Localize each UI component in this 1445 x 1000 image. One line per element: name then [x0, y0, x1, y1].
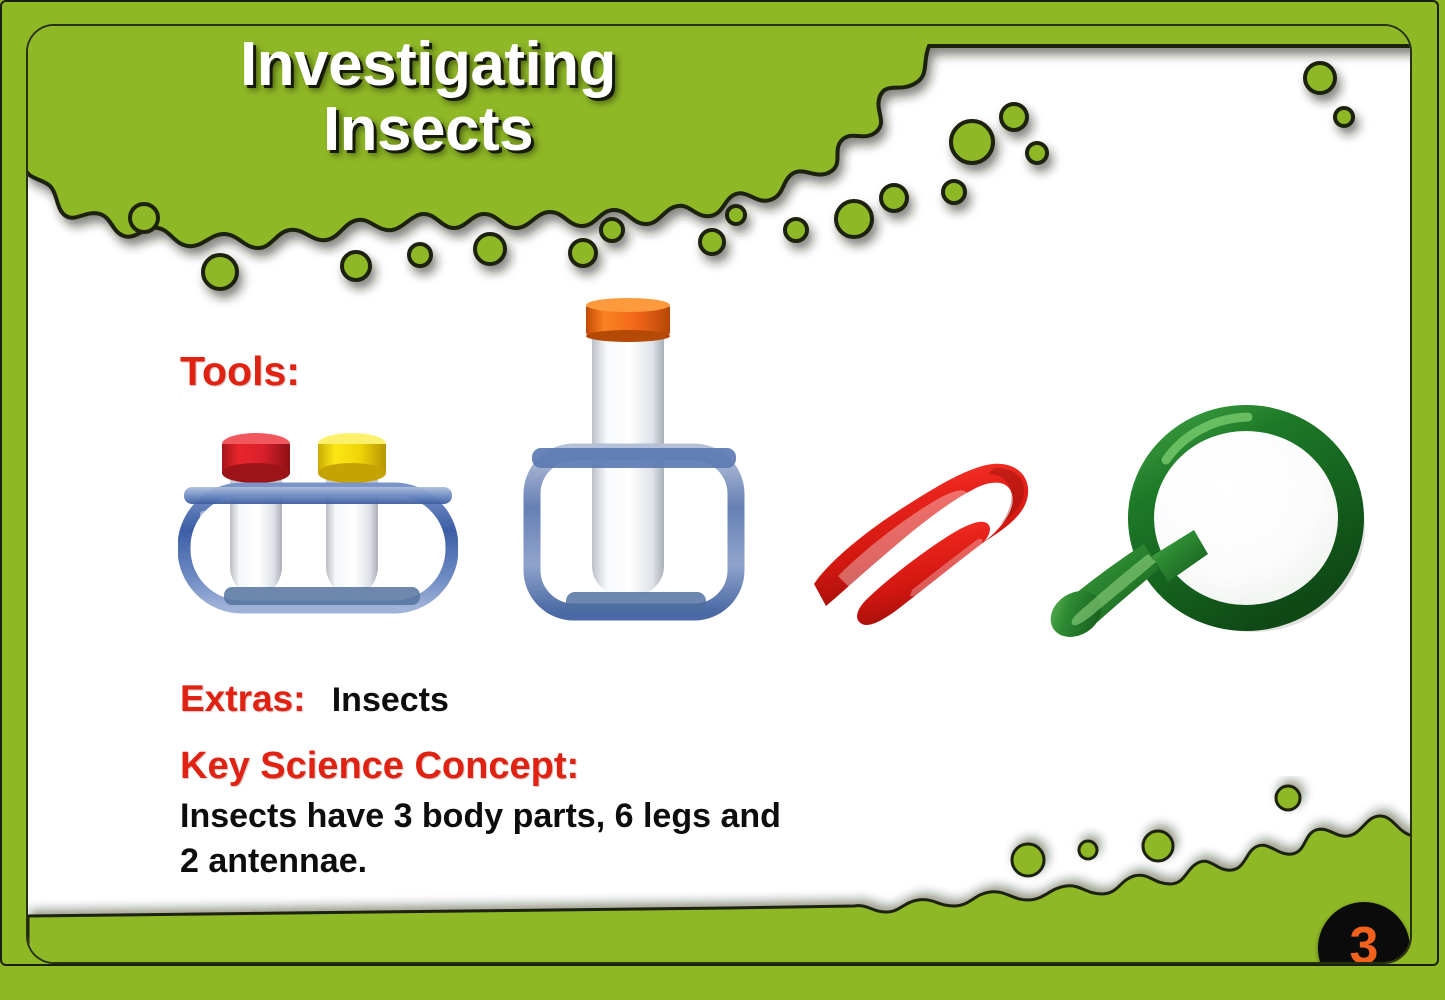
- concept-value: Insects have 3 body parts, 6 legs and 2 …: [180, 794, 800, 884]
- page-number: 3: [1350, 920, 1379, 962]
- tools-illustration-strip: [168, 296, 1408, 656]
- tweezers-icon: [808, 436, 1038, 636]
- extras-label: Extras:: [180, 678, 305, 719]
- title-line-1: Investigating: [240, 30, 616, 99]
- title-line-2: Insects: [148, 97, 708, 162]
- extras-value: Insects: [332, 681, 449, 719]
- test-tube-icon: [518, 296, 758, 626]
- page-number-badge: 3: [1318, 902, 1410, 962]
- card-title: Investigating Insects: [148, 32, 708, 162]
- extras-row: Extras: Insects: [180, 678, 449, 720]
- specimen-jars-icon: [178, 411, 458, 621]
- key-science-concept: Key Science Concept: Insects have 3 body…: [180, 744, 960, 884]
- activity-card: Investigating Insects Tools:: [0, 0, 1445, 1000]
- concept-label: Key Science Concept:: [180, 744, 960, 788]
- card-inner-panel: Investigating Insects Tools:: [28, 26, 1410, 962]
- magnifying-glass-icon: [1048, 368, 1378, 648]
- tools-label: Tools:: [180, 348, 300, 395]
